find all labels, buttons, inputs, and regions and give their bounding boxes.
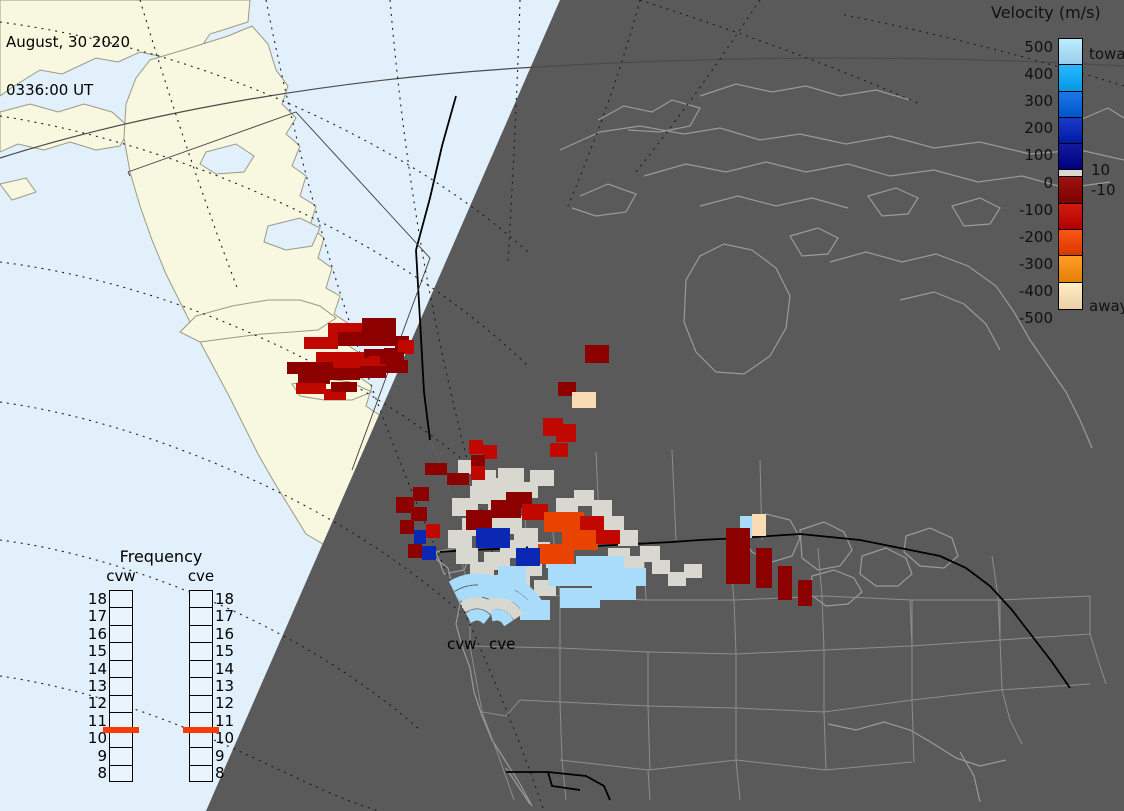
radar-site-label-cvw: cvw: [447, 635, 476, 653]
velocity-cell: [756, 548, 772, 588]
frequency-cell-cvw-12: [110, 696, 132, 713]
frequency-label-right-17: 17: [215, 607, 237, 625]
velocity-cell: [752, 514, 766, 536]
colorbar-tick-minus300: -300: [987, 255, 1053, 273]
colorbar-tick-100: 100: [987, 146, 1053, 164]
colorbar-swatch-10: [1059, 283, 1082, 309]
frequency-column-name-cvw: cvw: [99, 567, 143, 585]
velocity-cell: [576, 556, 624, 580]
velocity-cell: [516, 548, 540, 566]
frequency-cell-cve-17: [190, 608, 212, 625]
velocity-cell: [471, 455, 485, 467]
velocity-cell: [469, 440, 483, 454]
velocity-cell: [538, 544, 574, 564]
colorbar-swatch-7: [1059, 204, 1082, 230]
colorbar-swatch-1: [1059, 65, 1082, 91]
frequency-label-right-9: 9: [215, 747, 237, 765]
frequency-label-left-8: 8: [85, 764, 107, 782]
velocity-cell: [585, 345, 609, 363]
velocity-cell: [414, 530, 426, 544]
frequency-label-left-17: 17: [85, 607, 107, 625]
velocity-cell: [778, 566, 792, 600]
frequency-column-cve: [189, 590, 213, 782]
frequency-cell-cve-8: [190, 766, 212, 783]
frequency-cell-cve-13: [190, 678, 212, 695]
velocity-cell: [411, 507, 427, 521]
colorbar-positive-threshold-label: 10: [1091, 161, 1110, 179]
colorbar-tick-minus200: -200: [987, 228, 1053, 246]
colorbar-swatch-8: [1059, 230, 1082, 256]
colorbar-tick-200: 200: [987, 119, 1053, 137]
frequency-label-right-15: 15: [215, 642, 237, 660]
colorbar-swatch-6: [1059, 177, 1082, 203]
velocity-cell: [592, 500, 612, 516]
colorbar-toward-label: toward: [1089, 45, 1124, 63]
velocity-cell: [413, 487, 429, 501]
velocity-cell: [620, 568, 646, 586]
timestamp-date: August, 30 2020: [6, 34, 130, 50]
frequency-cell-cve-10: [190, 731, 212, 748]
frequency-cell-cve-15: [190, 643, 212, 660]
velocity-cell: [362, 318, 396, 332]
velocity-cell: [456, 548, 478, 564]
frequency-label-right-8: 8: [215, 764, 237, 782]
velocity-cell: [604, 516, 624, 532]
velocity-cell: [652, 560, 670, 574]
frequency-cell-cvw-15: [110, 643, 132, 660]
frequency-cell-cvw-14: [110, 661, 132, 678]
colorbar-swatch-5: [1059, 170, 1082, 177]
frequency-label-left-18: 18: [85, 590, 107, 608]
velocity-cell: [684, 564, 702, 578]
frequency-cell-cvw-10: [110, 731, 132, 748]
frequency-label-left-13: 13: [85, 677, 107, 695]
colorbar-swatch-2: [1059, 92, 1082, 118]
radar-map-figure: August, 30 2020 0336:00 UT Velocity (m/s…: [0, 0, 1124, 811]
velocity-cell: [304, 337, 338, 349]
frequency-label-right-16: 16: [215, 625, 237, 643]
frequency-label-left-14: 14: [85, 660, 107, 678]
timestamp: August, 30 2020 0336:00 UT: [6, 2, 130, 130]
velocity-cell: [360, 366, 386, 378]
colorbar-title: Velocity (m/s): [991, 3, 1124, 22]
frequency-cell-cve-9: [190, 748, 212, 765]
frequency-cell-cvw-8: [110, 766, 132, 783]
frequency-cell-cvw-16: [110, 626, 132, 643]
frequency-cell-cvw-9: [110, 748, 132, 765]
velocity-cell: [483, 445, 497, 459]
velocity-cell: [422, 546, 436, 560]
colorbar-swatches: [1058, 38, 1083, 310]
colorbar-swatch-0: [1059, 39, 1082, 65]
frequency-cell-cve-16: [190, 626, 212, 643]
frequency-legend-title: Frequency: [85, 547, 237, 566]
frequency-cell-cve-12: [190, 696, 212, 713]
velocity-cell: [426, 524, 440, 538]
frequency-label-left-16: 16: [85, 625, 107, 643]
velocity-cell: [398, 340, 414, 354]
velocity-cell: [296, 383, 326, 394]
colorbar-negative-threshold-label: -10: [1091, 181, 1116, 199]
frequency-cell-cvw-13: [110, 678, 132, 695]
frequency-label-left-9: 9: [85, 747, 107, 765]
colorbar-away-label: away: [1089, 297, 1124, 315]
colorbar-swatch-3: [1059, 118, 1082, 144]
velocity-cell: [338, 332, 396, 346]
velocity-cell: [550, 443, 568, 457]
velocity-cell: [572, 392, 596, 408]
velocity-cell: [618, 530, 638, 546]
velocity-cell: [560, 588, 600, 608]
colorbar-tick-minus500: -500: [987, 309, 1053, 327]
velocity-cell: [471, 466, 485, 480]
frequency-label-right-18: 18: [215, 590, 237, 608]
frequency-legend: Frequency cvw cve 18171615141312111098 1…: [85, 545, 237, 785]
timestamp-time: 0336:00 UT: [6, 82, 130, 98]
velocity-cell: [668, 572, 686, 586]
velocity-cell: [798, 580, 812, 606]
colorbar-tick-minus400: -400: [987, 282, 1053, 300]
velocity-cell: [476, 528, 510, 548]
frequency-cell-cve-14: [190, 661, 212, 678]
frequency-label-right-12: 12: [215, 694, 237, 712]
velocity-cell: [466, 510, 492, 530]
frequency-label-left-12: 12: [85, 694, 107, 712]
colorbar-tick-minus100: -100: [987, 201, 1053, 219]
frequency-label-left-15: 15: [85, 642, 107, 660]
velocity-cell: [596, 530, 620, 544]
colorbar-tick-500: 500: [987, 38, 1053, 56]
frequency-cell-cvw-17: [110, 608, 132, 625]
colorbar-tick-300: 300: [987, 92, 1053, 110]
velocity-cell: [556, 424, 576, 442]
velocity-cell: [298, 372, 330, 384]
colorbar-tick-400: 400: [987, 65, 1053, 83]
colorbar-tick-0: 0: [987, 174, 1053, 192]
velocity-cell: [330, 368, 360, 380]
velocity-cell: [331, 382, 357, 392]
frequency-label-right-13: 13: [215, 677, 237, 695]
velocity-cell: [425, 463, 447, 475]
velocity-colorbar: Velocity (m/s) 5004003002001000-100-200-…: [985, 0, 1124, 330]
frequency-cell-cve-18: [190, 591, 212, 608]
colorbar-swatch-9: [1059, 256, 1082, 282]
colorbar-swatch-4: [1059, 144, 1082, 170]
frequency-cell-cvw-18: [110, 591, 132, 608]
frequency-column-name-cve: cve: [179, 567, 223, 585]
frequency-label-right-14: 14: [215, 660, 237, 678]
frequency-marker-cvw: [103, 727, 139, 733]
velocity-cell: [408, 544, 422, 558]
velocity-cell: [726, 528, 750, 584]
velocity-cell: [556, 498, 578, 514]
velocity-cell: [580, 516, 604, 530]
frequency-column-cvw: [109, 590, 133, 782]
velocity-cell: [386, 360, 408, 373]
velocity-cell: [400, 520, 414, 534]
velocity-cell: [447, 473, 469, 485]
radar-site-label-cve: cve: [489, 635, 515, 653]
frequency-marker-cve: [183, 727, 219, 733]
